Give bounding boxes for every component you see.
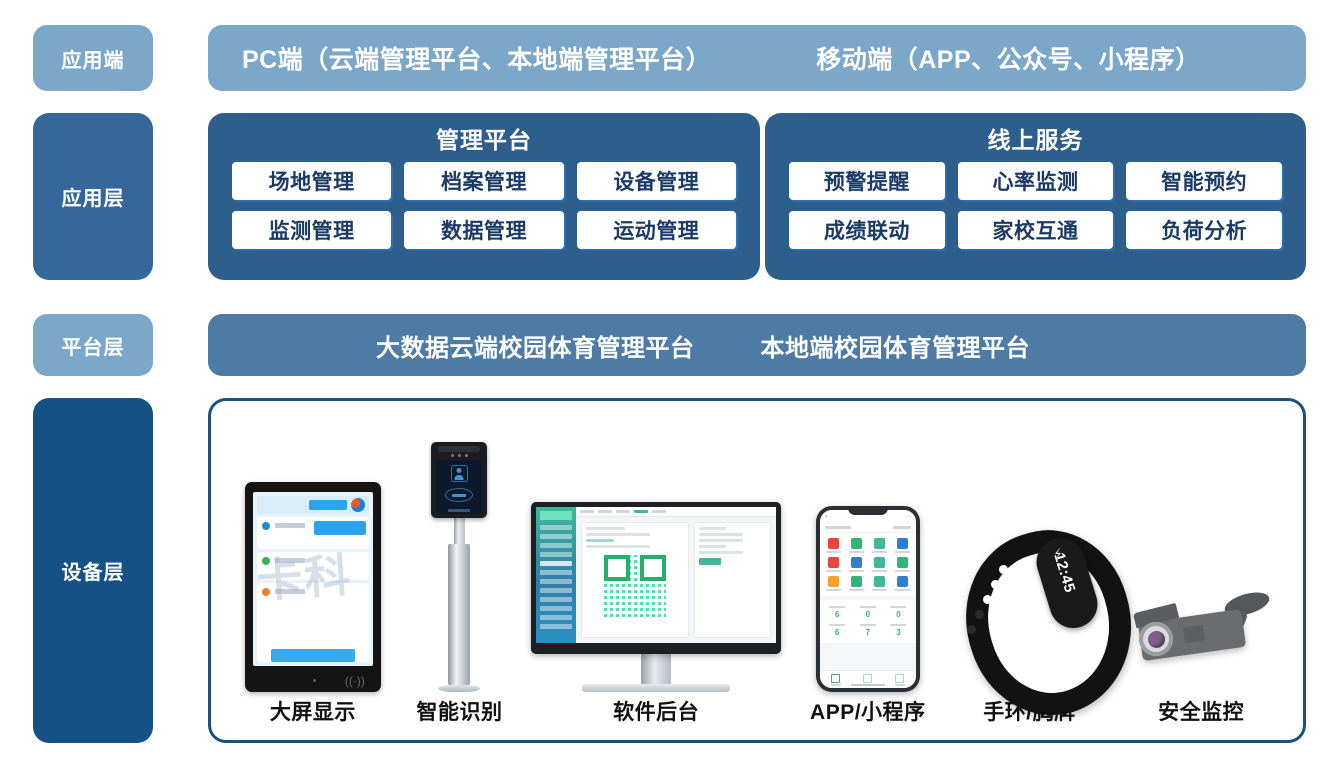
device-caption-monitor: 软件后台 bbox=[613, 692, 699, 734]
layer-label-app-layer: 应用层 bbox=[33, 113, 153, 280]
device-caption-camera: 安全监控 bbox=[1158, 692, 1244, 734]
device-list: 卡科 ((·)) 大屏显示 bbox=[211, 401, 1303, 740]
device-caption-kiosk: 大屏显示 bbox=[270, 692, 356, 734]
group-title-management: 管理平台 bbox=[208, 122, 760, 158]
platform-local-text: 本地端校园体育管理平台 bbox=[761, 328, 1031, 363]
face-recognition-terminal-icon bbox=[399, 401, 519, 692]
chip-smart-reservation[interactable]: 智能预约 bbox=[1126, 162, 1282, 200]
desktop-monitor-icon bbox=[521, 401, 791, 692]
layer-label-platform: 平台层 bbox=[33, 314, 153, 376]
qr-code-icon bbox=[604, 555, 666, 617]
device-caption-face-terminal: 智能识别 bbox=[416, 692, 502, 734]
chip-archive-management[interactable]: 档案管理 bbox=[404, 162, 563, 200]
device-item-kiosk: 卡科 ((·)) 大屏显示 bbox=[228, 401, 398, 734]
chip-load-analysis[interactable]: 负荷分析 bbox=[1126, 211, 1282, 249]
layer-label-device: 设备层 bbox=[33, 398, 153, 743]
group-title-online-service: 线上服务 bbox=[765, 122, 1306, 158]
smartphone-icon: ×··· bbox=[793, 401, 943, 692]
device-layer-panel: 卡科 ((·)) 大屏显示 bbox=[208, 398, 1306, 743]
app-client-pc-text: PC端（云端管理平台、本地端管理平台） bbox=[242, 40, 711, 76]
tab-profile[interactable] bbox=[895, 674, 905, 686]
chip-heart-rate-monitoring[interactable]: 心率监测 bbox=[958, 162, 1114, 200]
chip-grid-management: 场地管理 档案管理 设备管理 监测管理 数据管理 运动管理 bbox=[208, 158, 760, 249]
chip-grid-online-service: 预警提醒 心率监测 智能预约 成绩联动 家校互通 负荷分析 bbox=[765, 158, 1306, 249]
wristband-time: 12:45 bbox=[1050, 551, 1078, 595]
platform-bar: 大数据云端校园体育管理平台 本地端校园体育管理平台 bbox=[208, 314, 1306, 376]
chip-data-management[interactable]: 数据管理 bbox=[404, 211, 563, 249]
app-client-mobile-text: 移动端（APP、公众号、小程序） bbox=[816, 40, 1200, 76]
security-camera-icon bbox=[1116, 401, 1286, 692]
device-item-camera: 安全监控 bbox=[1116, 401, 1286, 734]
group-management-platform: 管理平台 场地管理 档案管理 设备管理 监测管理 数据管理 运动管理 bbox=[208, 113, 760, 280]
chip-venue-management[interactable]: 场地管理 bbox=[232, 162, 391, 200]
nfc-icon: ((·)) bbox=[345, 675, 365, 687]
device-item-phone: ×··· bbox=[793, 401, 943, 734]
chip-home-school-link[interactable]: 家校互通 bbox=[958, 211, 1114, 249]
chip-monitoring-management[interactable]: 监测管理 bbox=[232, 211, 391, 249]
device-item-face-terminal: 智能识别 bbox=[399, 401, 519, 734]
group-online-service: 线上服务 预警提醒 心率监测 智能预约 成绩联动 家校互通 负荷分析 bbox=[765, 113, 1306, 280]
device-caption-phone: APP/小程序 bbox=[810, 692, 926, 734]
fitness-wristband-icon: ⚡ 12:45 bbox=[944, 401, 1114, 692]
chip-alert-reminder[interactable]: 预警提醒 bbox=[789, 162, 945, 200]
tab-home[interactable] bbox=[831, 674, 841, 686]
platform-cloud-text: 大数据云端校园体育管理平台 bbox=[376, 328, 695, 363]
chip-device-management[interactable]: 设备管理 bbox=[577, 162, 736, 200]
device-item-monitor: 软件后台 bbox=[521, 401, 791, 734]
layer-label-app-client: 应用端 bbox=[33, 25, 153, 91]
app-client-bar: PC端（云端管理平台、本地端管理平台） 移动端（APP、公众号、小程序） bbox=[208, 25, 1306, 91]
device-item-wristband: ⚡ 12:45 手环/胸牌 bbox=[944, 401, 1114, 734]
kiosk-display-icon: 卡科 ((·)) bbox=[228, 401, 398, 692]
chip-score-linkage[interactable]: 成绩联动 bbox=[789, 211, 945, 249]
chip-sports-management[interactable]: 运动管理 bbox=[577, 211, 736, 249]
